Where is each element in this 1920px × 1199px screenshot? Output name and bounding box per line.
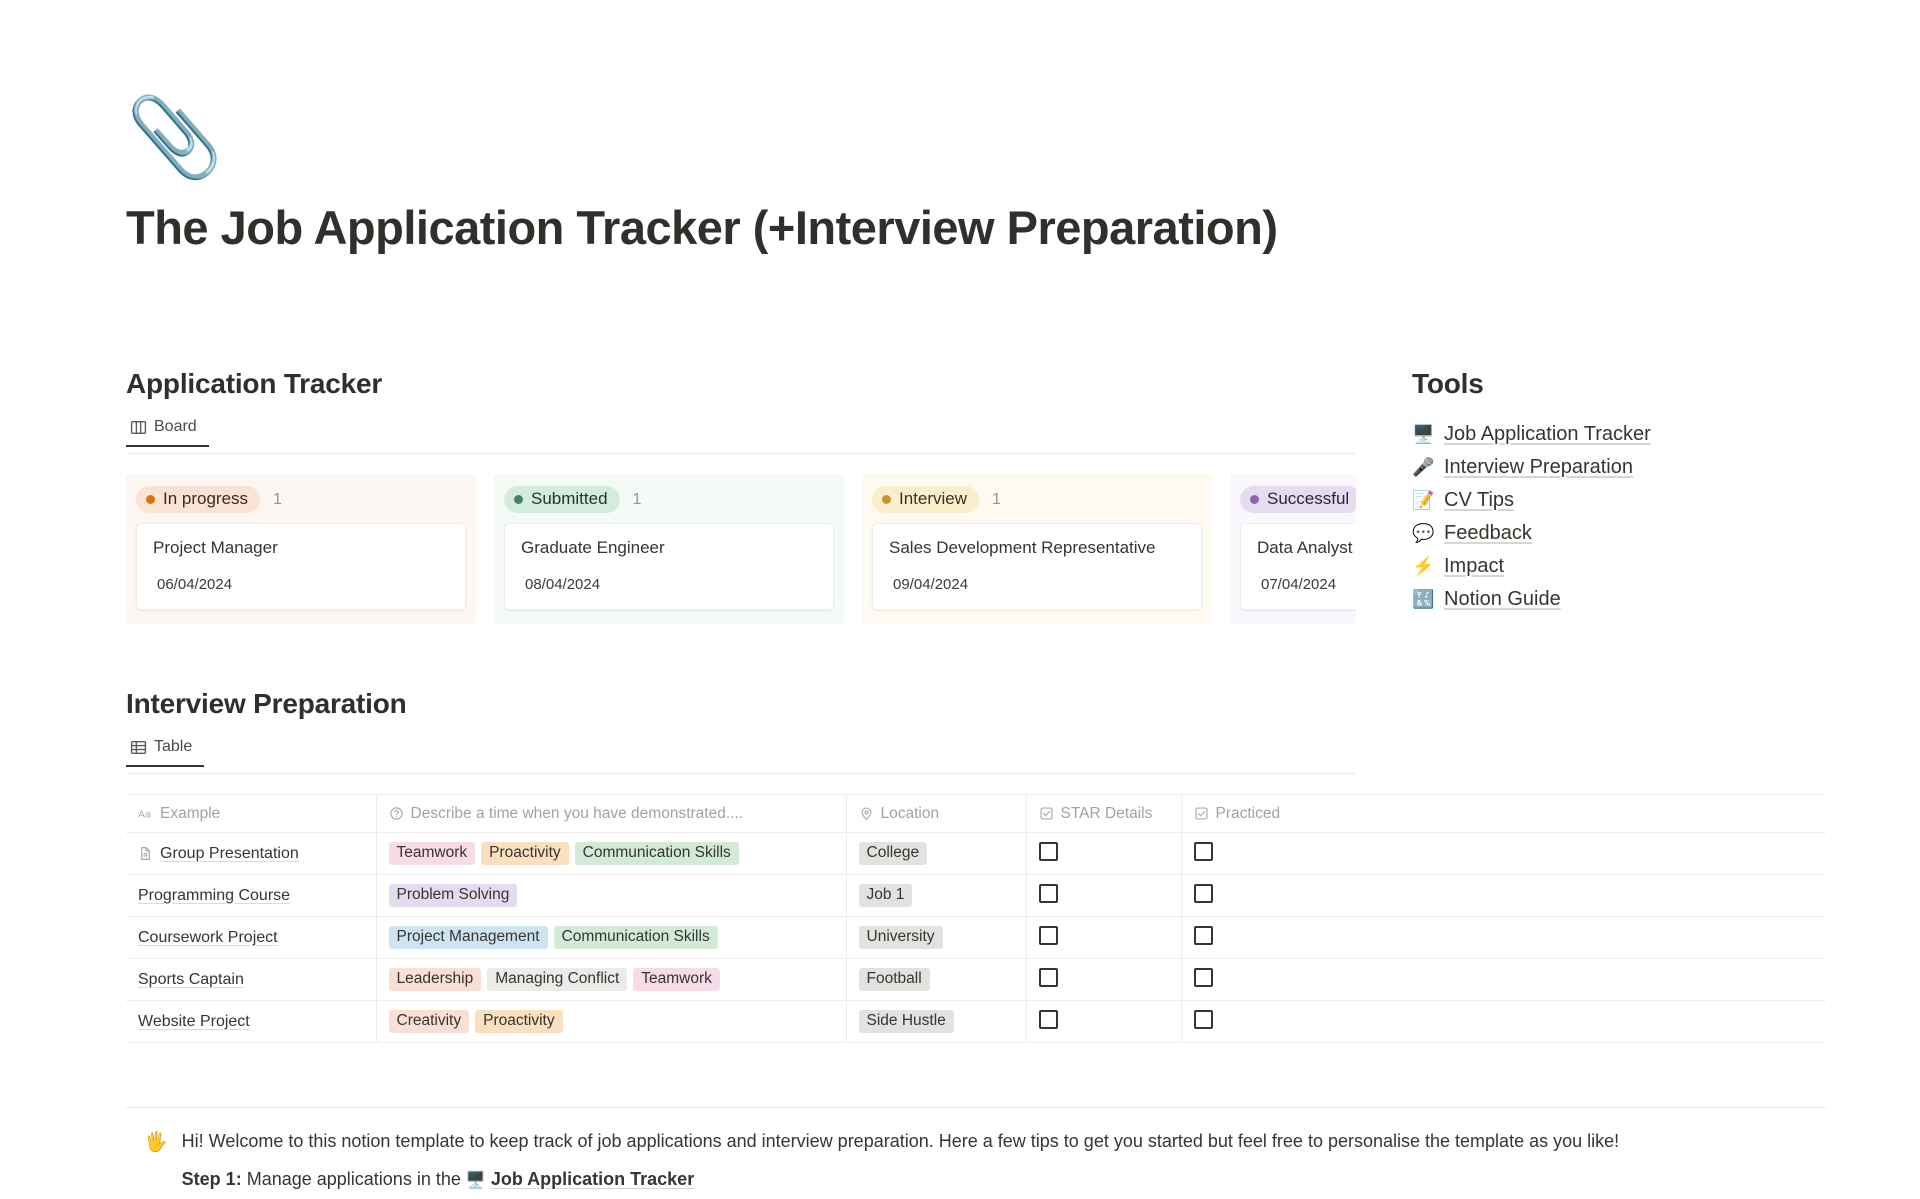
text-type-icon: Aa bbox=[138, 806, 153, 821]
checkbox-star-details[interactable] bbox=[1039, 968, 1058, 987]
status-label: Successful bbox=[1267, 489, 1349, 509]
board-column-header: In progress1 bbox=[126, 474, 476, 523]
callout-paragraph: Hi! Welcome to this notion template to k… bbox=[182, 1128, 1619, 1156]
example-name: Programming Course bbox=[138, 887, 290, 905]
cell-location[interactable]: Job 1 bbox=[846, 875, 1026, 917]
cell-skills[interactable]: CreativityProactivity bbox=[376, 1001, 846, 1043]
cell-skills[interactable]: Problem Solving bbox=[376, 875, 846, 917]
card-job-title: Project Manager bbox=[153, 538, 449, 558]
example-name: Sports Captain bbox=[138, 971, 244, 989]
checkbox-practiced[interactable] bbox=[1194, 842, 1213, 861]
speech-balloon-icon: 💬 bbox=[1412, 523, 1434, 544]
cell-location[interactable]: Football bbox=[846, 959, 1026, 1001]
status-dot-icon bbox=[514, 495, 523, 504]
cell-skills[interactable]: TeamworkProactivityCommunication Skills bbox=[376, 833, 846, 875]
location-tag: Side Hustle bbox=[859, 1010, 954, 1033]
cell-star-details[interactable] bbox=[1026, 917, 1181, 959]
job-application-card[interactable]: Project Manager06/04/2024 bbox=[136, 523, 466, 610]
cell-skills[interactable]: Project ManagementCommunication Skills bbox=[376, 917, 846, 959]
cell-location[interactable]: Side Hustle bbox=[846, 1001, 1026, 1043]
location-tag: Football bbox=[859, 968, 930, 991]
board-column[interactable]: Interview1Sales Development Representati… bbox=[862, 474, 1212, 624]
card-date: 07/04/2024 bbox=[1257, 576, 1356, 593]
checkbox-type-icon bbox=[1194, 806, 1209, 821]
interview-preparation-heading: Interview Preparation bbox=[126, 688, 1356, 720]
tools-link-list: 🖥️Job Application Tracker🎤Interview Prep… bbox=[1412, 418, 1842, 616]
status-dot-icon bbox=[882, 495, 891, 504]
board-column-count: 1 bbox=[992, 491, 1001, 509]
tool-link-interview-preparation[interactable]: 🎤Interview Preparation bbox=[1412, 451, 1842, 484]
board-column-count: 1 bbox=[633, 491, 642, 509]
table-column-header[interactable]: STAR Details bbox=[1026, 795, 1181, 833]
table-column-header[interactable]: Describe a time when you have demonstrat… bbox=[376, 795, 846, 833]
cell-example[interactable]: Programming Course bbox=[126, 875, 376, 917]
skill-tag: Teamwork bbox=[389, 842, 476, 865]
example-name: Group Presentation bbox=[160, 845, 299, 863]
raised-hand-icon: 🖐 bbox=[144, 1128, 168, 1194]
high-voltage-icon: ⚡ bbox=[1412, 556, 1434, 577]
page-title: The Job Application Tracker (+Interview … bbox=[126, 200, 1277, 255]
skill-tag: Managing Conflict bbox=[487, 968, 627, 991]
table-column-header-label: Example bbox=[160, 805, 220, 823]
tool-link-label: Feedback bbox=[1444, 522, 1532, 545]
table-row[interactable]: Website ProjectCreativityProactivitySide… bbox=[126, 1001, 1826, 1043]
tool-link-feedback[interactable]: 💬Feedback bbox=[1412, 517, 1842, 550]
paperclip-icon: 📎 bbox=[126, 98, 1277, 194]
tools-column: Tools 🖥️Job Application Tracker🎤Intervie… bbox=[1412, 368, 1842, 616]
table-column-header-label: Describe a time when you have demonstrat… bbox=[411, 805, 744, 823]
cell-practiced[interactable] bbox=[1181, 1001, 1826, 1043]
job-application-card[interactable]: Graduate Engineer08/04/2024 bbox=[504, 523, 834, 610]
status-badge[interactable]: Interview bbox=[872, 486, 979, 513]
checkbox-star-details[interactable] bbox=[1039, 842, 1058, 861]
checkbox-practiced[interactable] bbox=[1194, 926, 1213, 945]
application-tracker-heading: Application Tracker bbox=[126, 368, 1356, 400]
cell-skills[interactable]: LeadershipManaging ConflictTeamwork bbox=[376, 959, 846, 1001]
checkbox-type-icon bbox=[1039, 806, 1054, 821]
cell-star-details[interactable] bbox=[1026, 875, 1181, 917]
table-body: Group PresentationTeamworkProactivityCom… bbox=[126, 833, 1826, 1043]
tool-link-notion-guide[interactable]: 🔣Notion Guide bbox=[1412, 583, 1842, 616]
board-view-icon bbox=[130, 419, 147, 436]
microphone-icon: 🎤 bbox=[1412, 457, 1434, 478]
cell-example[interactable]: Group Presentation bbox=[126, 833, 376, 875]
board-column-header: Interview1 bbox=[862, 474, 1212, 523]
skill-tag: Proactivity bbox=[475, 1010, 563, 1033]
callout-step-1: Step 1: Manage applications in the 🖥️ Jo… bbox=[182, 1166, 1619, 1194]
board-column[interactable]: In progress1Project Manager06/04/2024 bbox=[126, 474, 476, 624]
example-name: Website Project bbox=[138, 1013, 250, 1031]
callout-body: Hi! Welcome to this notion template to k… bbox=[182, 1128, 1619, 1194]
tool-link-label: Job Application Tracker bbox=[1444, 423, 1651, 446]
cell-star-details[interactable] bbox=[1026, 959, 1181, 1001]
memo-icon: 📝 bbox=[1412, 490, 1434, 511]
table-row[interactable]: Coursework ProjectProject ManagementComm… bbox=[126, 917, 1826, 959]
skill-tag: Problem Solving bbox=[389, 884, 518, 907]
tool-link-job-application-tracker[interactable]: 🖥️Job Application Tracker bbox=[1412, 418, 1842, 451]
main-content-column: Application Tracker Board In progress1Pr… bbox=[126, 368, 1356, 1043]
cell-practiced[interactable] bbox=[1181, 833, 1826, 875]
notion-logo-icon: 🔣 bbox=[1412, 589, 1434, 610]
status-badge[interactable]: In progress bbox=[136, 486, 260, 513]
card-date: 08/04/2024 bbox=[521, 576, 817, 593]
job-application-card[interactable]: Data Analyst07/04/2024 bbox=[1240, 523, 1356, 610]
page-header: 📎 The Job Application Tracker (+Intervie… bbox=[126, 98, 1277, 255]
table-row[interactable]: Group PresentationTeamworkProactivityCom… bbox=[126, 833, 1826, 875]
table-column-header[interactable]: AaExample bbox=[126, 795, 376, 833]
interview-view-tabs: Table bbox=[126, 738, 1356, 774]
notion-page: 📎 The Job Application Tracker (+Intervie… bbox=[0, 0, 1920, 1199]
checkbox-practiced[interactable] bbox=[1194, 884, 1213, 903]
checkbox-star-details[interactable] bbox=[1039, 884, 1058, 903]
card-job-title: Data Analyst bbox=[1257, 538, 1356, 558]
tools-heading: Tools bbox=[1412, 368, 1842, 400]
board-column[interactable]: Submitted1Graduate Engineer08/04/2024 bbox=[494, 474, 844, 624]
tab-table-label: Table bbox=[154, 738, 192, 756]
callout-step-label: Step 1: bbox=[182, 1169, 242, 1189]
status-label: In progress bbox=[163, 489, 248, 509]
tab-board-label: Board bbox=[154, 418, 197, 436]
location-tag: University bbox=[859, 926, 943, 949]
cell-practiced[interactable] bbox=[1181, 959, 1826, 1001]
page-document-icon bbox=[138, 846, 153, 861]
skill-tag: Creativity bbox=[389, 1010, 470, 1033]
table-header-row: AaExampleDescribe a time when you have d… bbox=[126, 795, 1826, 833]
skill-tag: Communication Skills bbox=[554, 926, 718, 949]
tab-table[interactable]: Table bbox=[126, 738, 204, 767]
job-application-card[interactable]: Sales Development Representative09/04/20… bbox=[872, 523, 1202, 610]
skill-tag: Project Management bbox=[389, 926, 548, 949]
cell-example[interactable]: Sports Captain bbox=[126, 959, 376, 1001]
card-date: 06/04/2024 bbox=[153, 576, 449, 593]
table-column-header-label: Practiced bbox=[1216, 805, 1281, 823]
tab-board[interactable]: Board bbox=[126, 418, 209, 447]
checkbox-practiced[interactable] bbox=[1194, 968, 1213, 987]
checkbox-star-details[interactable] bbox=[1039, 1010, 1058, 1029]
tool-link-label: CV Tips bbox=[1444, 489, 1514, 512]
skill-tag: Leadership bbox=[389, 968, 482, 991]
board-column[interactable]: SuccessfulData Analyst07/04/2024 bbox=[1230, 474, 1356, 624]
tool-link-cv-tips[interactable]: 📝CV Tips bbox=[1412, 484, 1842, 517]
tracker-view-tabs: Board bbox=[126, 418, 1356, 454]
svg-text:Aa: Aa bbox=[138, 809, 151, 820]
location-tag: Job 1 bbox=[859, 884, 913, 907]
tool-link-label: Notion Guide bbox=[1444, 588, 1561, 611]
skill-tag: Proactivity bbox=[481, 842, 569, 865]
status-label: Submitted bbox=[531, 489, 608, 509]
cell-example[interactable]: Website Project bbox=[126, 1001, 376, 1043]
interview-preparation-table: AaExampleDescribe a time when you have d… bbox=[126, 794, 1826, 1043]
checkbox-star-details[interactable] bbox=[1039, 926, 1058, 945]
table-column-header[interactable]: Practiced bbox=[1181, 795, 1826, 833]
callout-step-text: Manage applications in the bbox=[247, 1169, 461, 1189]
status-label: Interview bbox=[899, 489, 967, 509]
status-badge[interactable]: Successful bbox=[1240, 486, 1356, 513]
table-column-header-label: Location bbox=[881, 805, 940, 823]
table-row[interactable]: Sports CaptainLeadershipManaging Conflic… bbox=[126, 959, 1826, 1001]
card-job-title: Graduate Engineer bbox=[521, 538, 817, 558]
status-dot-icon bbox=[1250, 495, 1259, 504]
multi-select-icon bbox=[389, 806, 404, 821]
location-pin-icon bbox=[859, 806, 874, 821]
board-column-count: 1 bbox=[273, 491, 282, 509]
tool-link-impact[interactable]: ⚡Impact bbox=[1412, 550, 1842, 583]
table-row[interactable]: Programming CourseProblem SolvingJob 1 bbox=[126, 875, 1826, 917]
desktop-computer-icon: 🖥️ bbox=[466, 1172, 486, 1189]
cell-example[interactable]: Coursework Project bbox=[126, 917, 376, 959]
cell-location[interactable]: University bbox=[846, 917, 1026, 959]
status-dot-icon bbox=[146, 495, 155, 504]
callout-step-link[interactable]: Job Application Tracker bbox=[491, 1169, 694, 1189]
skill-tag: Communication Skills bbox=[575, 842, 739, 865]
board-column-header: Successful bbox=[1230, 474, 1356, 523]
kanban-board[interactable]: In progress1Project Manager06/04/2024Sub… bbox=[126, 474, 1356, 624]
checkbox-practiced[interactable] bbox=[1194, 1010, 1213, 1029]
status-badge[interactable]: Submitted bbox=[504, 486, 620, 513]
tool-link-label: Impact bbox=[1444, 555, 1504, 578]
board-column-header: Submitted1 bbox=[494, 474, 844, 523]
cell-practiced[interactable] bbox=[1181, 917, 1826, 959]
location-tag: College bbox=[859, 842, 928, 865]
cell-location[interactable]: College bbox=[846, 833, 1026, 875]
cell-practiced[interactable] bbox=[1181, 875, 1826, 917]
example-name: Coursework Project bbox=[138, 929, 278, 947]
cell-star-details[interactable] bbox=[1026, 1001, 1181, 1043]
tool-link-label: Interview Preparation bbox=[1444, 456, 1633, 479]
welcome-callout: 🖐 Hi! Welcome to this notion template to… bbox=[126, 1107, 1826, 1194]
card-job-title: Sales Development Representative bbox=[889, 538, 1185, 558]
table-column-header[interactable]: Location bbox=[846, 795, 1026, 833]
cell-star-details[interactable] bbox=[1026, 833, 1181, 875]
table-column-header-label: STAR Details bbox=[1061, 805, 1153, 823]
desktop-computer-icon: 🖥️ bbox=[1412, 424, 1434, 445]
skill-tag: Teamwork bbox=[633, 968, 720, 991]
table-view-icon bbox=[130, 739, 147, 756]
card-date: 09/04/2024 bbox=[889, 576, 1185, 593]
